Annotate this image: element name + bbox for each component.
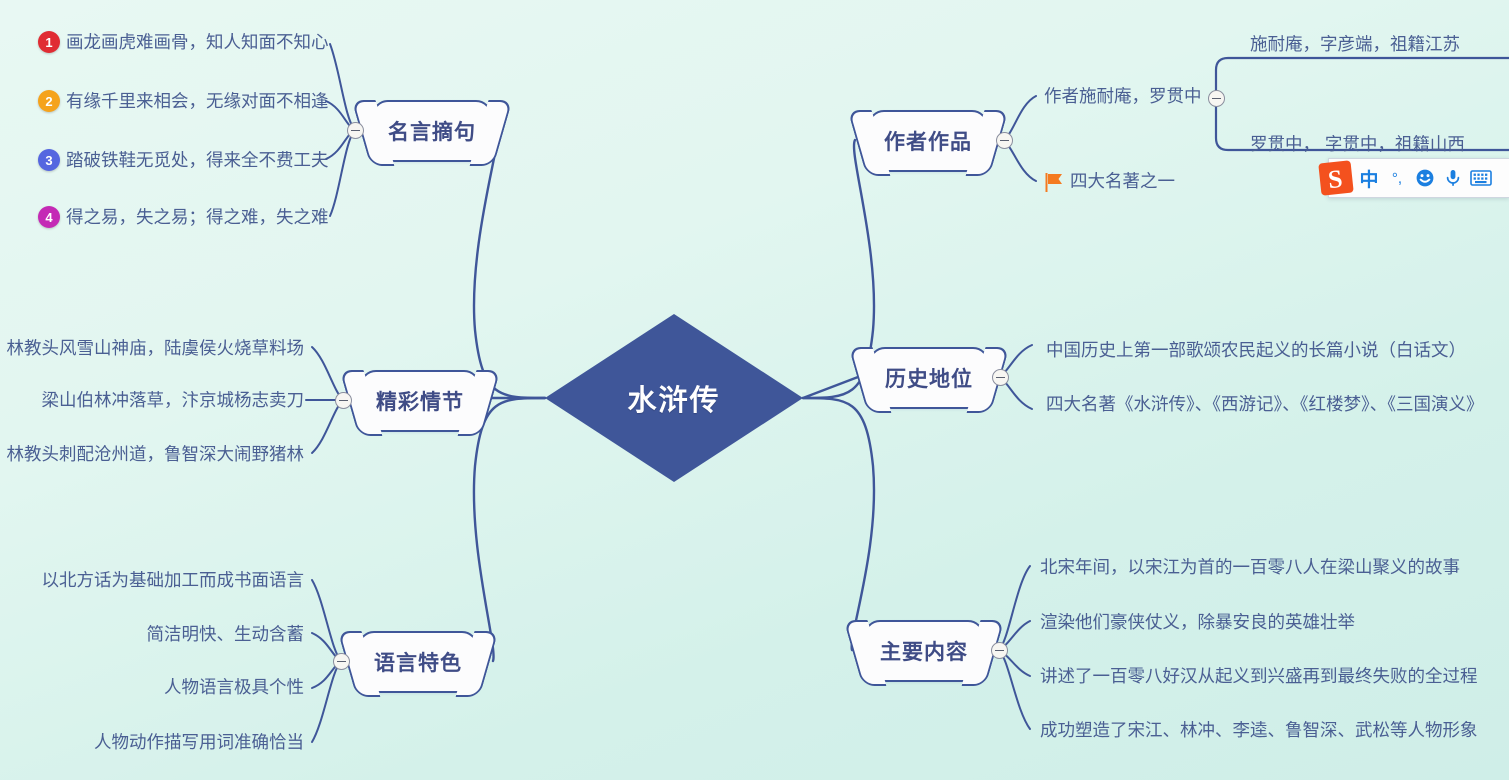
ime-soft-keyboard-icon[interactable]	[1467, 163, 1495, 193]
collapse-toggle-history[interactable]	[992, 369, 1009, 386]
minus-icon	[337, 661, 346, 663]
ime-voice-input-icon[interactable]	[1439, 163, 1467, 193]
leaf-quote-1[interactable]: 画龙画虎难画骨，知人知面不知心	[66, 34, 329, 52]
minus-icon	[351, 130, 360, 132]
collapse-toggle-author[interactable]	[996, 132, 1013, 149]
branch-node-author[interactable]: 作者作品	[868, 110, 988, 172]
leaf-language-4[interactable]: 人物动作描写用词准确恰当	[94, 734, 304, 752]
leaf-author-sub-2[interactable]: 罗贯中， 字贯中，祖籍山西	[1250, 136, 1465, 154]
leaf-language-2[interactable]: 简洁明快、生动含蓄	[147, 626, 305, 644]
quote-badge-1: 1	[38, 31, 60, 53]
branch-node-quotes[interactable]: 名言摘句	[372, 100, 492, 162]
center-node[interactable]: 水浒传	[545, 314, 803, 482]
leaf-author-1[interactable]: 作者施耐庵，罗贯中	[1044, 88, 1202, 106]
leaf-author-sub-1[interactable]: 施耐庵，字彦端，祖籍江苏	[1250, 36, 1460, 54]
branch-label-quotes: 名言摘句	[388, 116, 476, 146]
leaf-quote-2[interactable]: 有缘千里来相会，无缘对面不相逢	[66, 93, 329, 111]
minus-icon	[995, 650, 1004, 652]
ime-punctuation-button[interactable]: °,	[1383, 163, 1411, 193]
leaf-quote-3[interactable]: 踏破铁鞋无觅处，得来全不费工夫	[66, 152, 329, 170]
leaf-history-1[interactable]: 中国历史上第一部歌颂农民起义的长篇小说（白话文）	[1046, 342, 1466, 360]
mindmap-canvas: 水浒传 名言摘句 精彩情节 语言特色 作者作品 历史地位 主要内容 1 画龙画虎…	[0, 0, 1509, 780]
branch-node-plot[interactable]: 精彩情节	[360, 370, 480, 432]
collapse-toggle-language[interactable]	[333, 653, 350, 670]
keyboard-icon	[1470, 169, 1492, 187]
leaf-content-1[interactable]: 北宋年间，以宋江为首的一百零八人在梁山聚义的故事	[1040, 559, 1460, 577]
quote-badge-2: 2	[38, 90, 60, 112]
leaf-content-4[interactable]: 成功塑造了宋江、林冲、李逵、鲁智深、武松等人物形象	[1040, 722, 1478, 740]
branch-label-author: 作者作品	[884, 126, 972, 156]
leaf-plot-3[interactable]: 林教头刺配沧州道，鲁智深大闹野猪林	[7, 446, 305, 464]
branch-label-plot: 精彩情节	[376, 386, 464, 416]
sogou-ime-toolbar[interactable]: S 中 °,	[1328, 158, 1509, 198]
branch-node-history[interactable]: 历史地位	[869, 347, 989, 409]
quote-badge-4: 4	[38, 206, 60, 228]
collapse-toggle-quotes[interactable]	[347, 122, 364, 139]
microphone-icon	[1443, 168, 1463, 188]
sogou-logo-icon[interactable]: S	[1317, 159, 1355, 197]
svg-text:S: S	[1327, 164, 1344, 194]
collapse-toggle-content[interactable]	[991, 642, 1008, 659]
leaf-quote-4[interactable]: 得之易，失之易；得之难，失之难	[66, 209, 329, 227]
minus-icon	[996, 377, 1005, 379]
leaf-content-2[interactable]: 渲染他们豪侠仗义，除暴安良的英雄壮举	[1040, 614, 1355, 632]
branch-node-language[interactable]: 语言特色	[358, 631, 478, 693]
ime-chinese-mode-button[interactable]: 中	[1355, 163, 1383, 193]
leaf-author-2[interactable]: 四大名著之一	[1070, 173, 1175, 191]
branch-node-content[interactable]: 主要内容	[864, 620, 984, 682]
minus-icon	[1000, 140, 1009, 142]
leaf-language-1[interactable]: 以北方话为基础加工而成书面语言	[42, 572, 305, 590]
branch-label-content: 主要内容	[880, 636, 968, 666]
minus-icon	[339, 400, 348, 402]
collapse-toggle-author-sub[interactable]	[1208, 90, 1225, 107]
minus-icon	[1212, 98, 1221, 100]
flag-icon	[1043, 171, 1065, 193]
leaf-language-3[interactable]: 人物语言极具个性	[164, 679, 304, 697]
leaf-plot-1[interactable]: 林教头风雪山神庙，陆虞侯火烧草料场	[7, 340, 305, 358]
center-title: 水浒传	[627, 377, 720, 419]
branch-label-language: 语言特色	[374, 647, 462, 677]
branch-label-history: 历史地位	[885, 363, 973, 393]
smiley-icon	[1415, 168, 1435, 188]
ime-emoji-icon[interactable]	[1411, 163, 1439, 193]
leaf-content-3[interactable]: 讲述了一百零八好汉从起义到兴盛再到最终失败的全过程	[1040, 668, 1478, 686]
leaf-plot-2[interactable]: 梁山伯林冲落草，汴京城杨志卖刀	[42, 392, 305, 410]
leaf-history-2[interactable]: 四大名著《水浒传》、《西游记》、《红楼梦》、《三国演义》	[1046, 396, 1484, 414]
quote-badge-3: 3	[38, 149, 60, 171]
collapse-toggle-plot[interactable]	[335, 392, 352, 409]
